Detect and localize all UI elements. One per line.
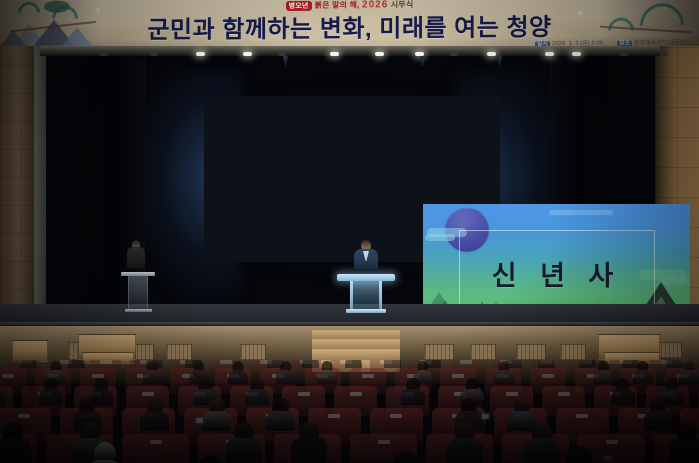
seat-number-tag xyxy=(576,414,588,418)
seat-number-tag xyxy=(350,392,362,396)
ceiling-light xyxy=(487,52,496,56)
ceiling-light-off xyxy=(100,52,108,56)
seat-number-tag xyxy=(142,392,154,396)
main-podium xyxy=(337,262,395,314)
person-shoulders xyxy=(20,360,37,368)
person-shoulders xyxy=(140,411,169,431)
person-shoulders xyxy=(401,389,425,406)
audience-person xyxy=(524,422,560,463)
person-shoulders xyxy=(669,438,699,463)
person-shoulders xyxy=(524,438,560,463)
left-wood-wall xyxy=(0,46,34,318)
ceiling-light-truss xyxy=(40,46,660,56)
slide-cloud xyxy=(425,234,455,241)
seat-number-tag xyxy=(378,440,390,444)
stage-step xyxy=(312,330,400,339)
side-podium-base xyxy=(125,309,152,312)
main-podium-body xyxy=(350,281,382,311)
person-shoulders xyxy=(302,360,319,368)
side-podium-body xyxy=(128,276,148,310)
person-shoulders xyxy=(384,360,401,368)
side-person xyxy=(125,240,147,268)
phone-screen-glow xyxy=(482,414,489,419)
person-shoulders xyxy=(276,370,296,384)
ceiling-light xyxy=(415,52,424,56)
ceiling-light xyxy=(278,52,286,56)
audience-person xyxy=(669,422,699,463)
audience-person xyxy=(39,378,63,405)
person-shoulders xyxy=(345,360,362,368)
audience-person xyxy=(345,360,362,368)
audience-person xyxy=(302,360,319,368)
seat-number-tag xyxy=(606,440,618,444)
audience-area xyxy=(0,360,699,463)
stage-bench xyxy=(12,340,48,362)
audience-person xyxy=(291,422,327,463)
audience-person xyxy=(20,360,37,368)
seat-number-tag xyxy=(460,360,472,364)
slide-title: 신 년 사 xyxy=(423,254,690,293)
stage-step xyxy=(312,349,400,360)
audience-person xyxy=(384,360,401,368)
person-shoulders xyxy=(633,370,653,384)
person-head xyxy=(196,456,225,463)
ceiling-light xyxy=(572,52,581,56)
person-shoulders xyxy=(317,370,337,384)
person-shoulders xyxy=(143,370,163,384)
wall-grille xyxy=(424,344,454,360)
ceiling-light xyxy=(243,52,252,56)
seat-number-tag xyxy=(558,392,570,396)
audience-person xyxy=(0,422,31,463)
person-shoulders xyxy=(494,370,514,384)
side-podium xyxy=(121,262,155,314)
wall-grille xyxy=(560,344,586,360)
slide-cloud xyxy=(549,210,613,215)
main-speaker xyxy=(350,240,382,268)
ceiling-light xyxy=(620,52,628,56)
ceiling-light xyxy=(450,52,458,56)
ceiling-light xyxy=(375,52,384,56)
seat-number-tag xyxy=(328,414,340,418)
seat-number-tag xyxy=(18,414,30,418)
seat-number-tag xyxy=(150,440,162,444)
person-shoulders xyxy=(0,389,6,406)
projection-screen: 신 년 사 xyxy=(204,96,500,262)
person-shoulders xyxy=(291,438,327,463)
person-head xyxy=(393,452,420,463)
ceiling-light xyxy=(196,52,205,56)
ceiling-light xyxy=(330,52,339,56)
left-wall-edge xyxy=(34,46,46,318)
seat-number-tag xyxy=(298,392,310,396)
seat-number-tag xyxy=(542,374,554,378)
audience-seat xyxy=(122,434,189,463)
person-shoulders xyxy=(611,389,635,406)
phone-screen-glow xyxy=(604,456,611,461)
audience-person xyxy=(633,361,653,384)
side-person-torso xyxy=(127,247,145,268)
audience-person xyxy=(276,361,296,384)
audience-person xyxy=(317,361,337,384)
audience-person xyxy=(0,378,6,405)
seat-number-tag xyxy=(100,360,112,364)
seat-number-tag xyxy=(506,392,518,396)
person-shoulders xyxy=(0,438,31,463)
stage-step xyxy=(312,339,400,349)
person-shoulders xyxy=(447,438,483,463)
seat-number-tag xyxy=(390,414,402,418)
ceiling-light xyxy=(545,52,554,56)
audience-person xyxy=(447,422,483,463)
auditorium-photo: 병오년붉은 말의 해, 2026 시무식 군민과 함께하는 변화, 미래를 여는… xyxy=(0,0,699,463)
main-podium-top xyxy=(337,274,395,281)
audience-person xyxy=(538,360,555,368)
ceiling-light-off xyxy=(150,52,158,56)
phone-screen-glow xyxy=(196,418,203,423)
person-shoulders xyxy=(39,389,63,406)
audience-person xyxy=(401,378,425,405)
seat-number-tag xyxy=(362,374,374,378)
audience-person-front xyxy=(556,446,602,463)
wall-grille xyxy=(516,344,546,360)
event-banner: 병오년붉은 말의 해, 2026 시무식 군민과 함께하는 변화, 미래를 여는… xyxy=(0,0,699,52)
audience-person-front xyxy=(185,456,237,463)
person-shoulders xyxy=(538,360,555,368)
wall-grille xyxy=(240,344,266,360)
audience-person-front xyxy=(85,442,125,463)
audience-person xyxy=(140,398,169,431)
main-podium-base xyxy=(346,309,386,313)
audience-person xyxy=(494,361,514,384)
person-shoulders xyxy=(68,360,85,368)
audience-person xyxy=(611,378,635,405)
audience-person xyxy=(143,361,163,384)
wall-grille xyxy=(166,344,192,360)
person-head xyxy=(566,446,592,463)
audience-person-front xyxy=(382,452,430,463)
ceiling-light-off xyxy=(660,52,668,56)
wall-grille xyxy=(470,344,496,360)
audience-person xyxy=(68,360,85,368)
